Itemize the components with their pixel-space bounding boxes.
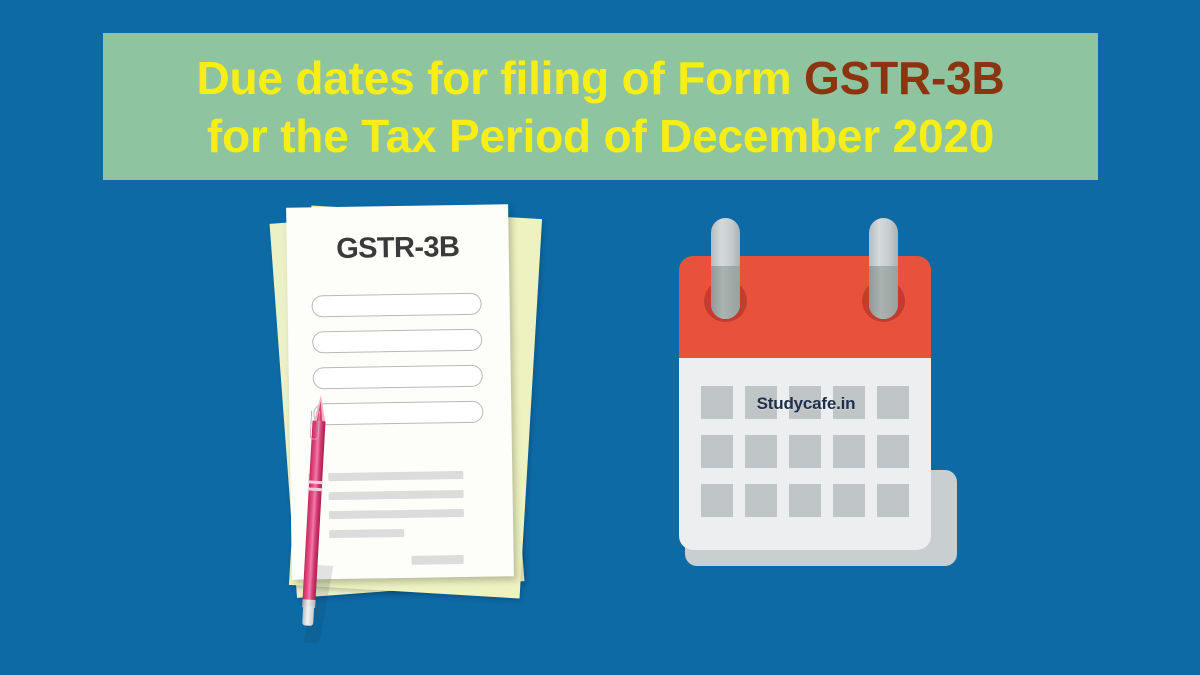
calendar-ring-left-lower xyxy=(711,266,740,319)
calendar-ring-right-lower xyxy=(869,266,898,319)
calendar-day-cell xyxy=(745,435,777,468)
text-line-1 xyxy=(328,471,463,481)
text-line-2 xyxy=(329,490,464,500)
calendar-day-cell xyxy=(877,484,909,517)
calendar-icon: Studycafe.in xyxy=(679,218,962,590)
calendar-day-cell xyxy=(833,435,865,468)
form-field-box-1 xyxy=(311,293,481,318)
form-field-box-4 xyxy=(313,401,483,426)
calendar-day-cell xyxy=(789,435,821,468)
calendar-day-cell xyxy=(833,484,865,517)
text-line-3 xyxy=(329,509,464,519)
form-field-box-3 xyxy=(313,365,483,390)
calendar-day-cell xyxy=(745,484,777,517)
form-field-box-2 xyxy=(312,329,482,354)
headline-banner: Due dates for filing of Form GSTR-3B for… xyxy=(103,33,1098,180)
watermark-text: Studycafe.in xyxy=(701,394,911,414)
calendar-day-cell xyxy=(701,484,733,517)
calendar-day-cell xyxy=(789,484,821,517)
poster-canvas: Due dates for filing of Form GSTR-3B for… xyxy=(0,0,1200,675)
gstr-form-illustration: GSTR-3B xyxy=(250,190,580,660)
pen-clip xyxy=(310,410,321,439)
signature-line xyxy=(412,555,464,565)
headline-form-name: GSTR-3B xyxy=(804,52,1005,104)
document-title: GSTR-3B xyxy=(287,230,509,266)
headline-line-1-prefix: Due dates for filing of Form xyxy=(196,52,804,104)
calendar-day-cell xyxy=(701,435,733,468)
headline-line-1: Due dates for filing of Form GSTR-3B xyxy=(196,49,1004,107)
headline-line-2: for the Tax Period of December 2020 xyxy=(207,107,994,165)
calendar-ring-left xyxy=(711,218,740,319)
text-line-4 xyxy=(329,529,404,538)
pen-end-cap xyxy=(302,605,314,626)
calendar-day-cell xyxy=(877,435,909,468)
calendar-ring-right xyxy=(869,218,898,319)
